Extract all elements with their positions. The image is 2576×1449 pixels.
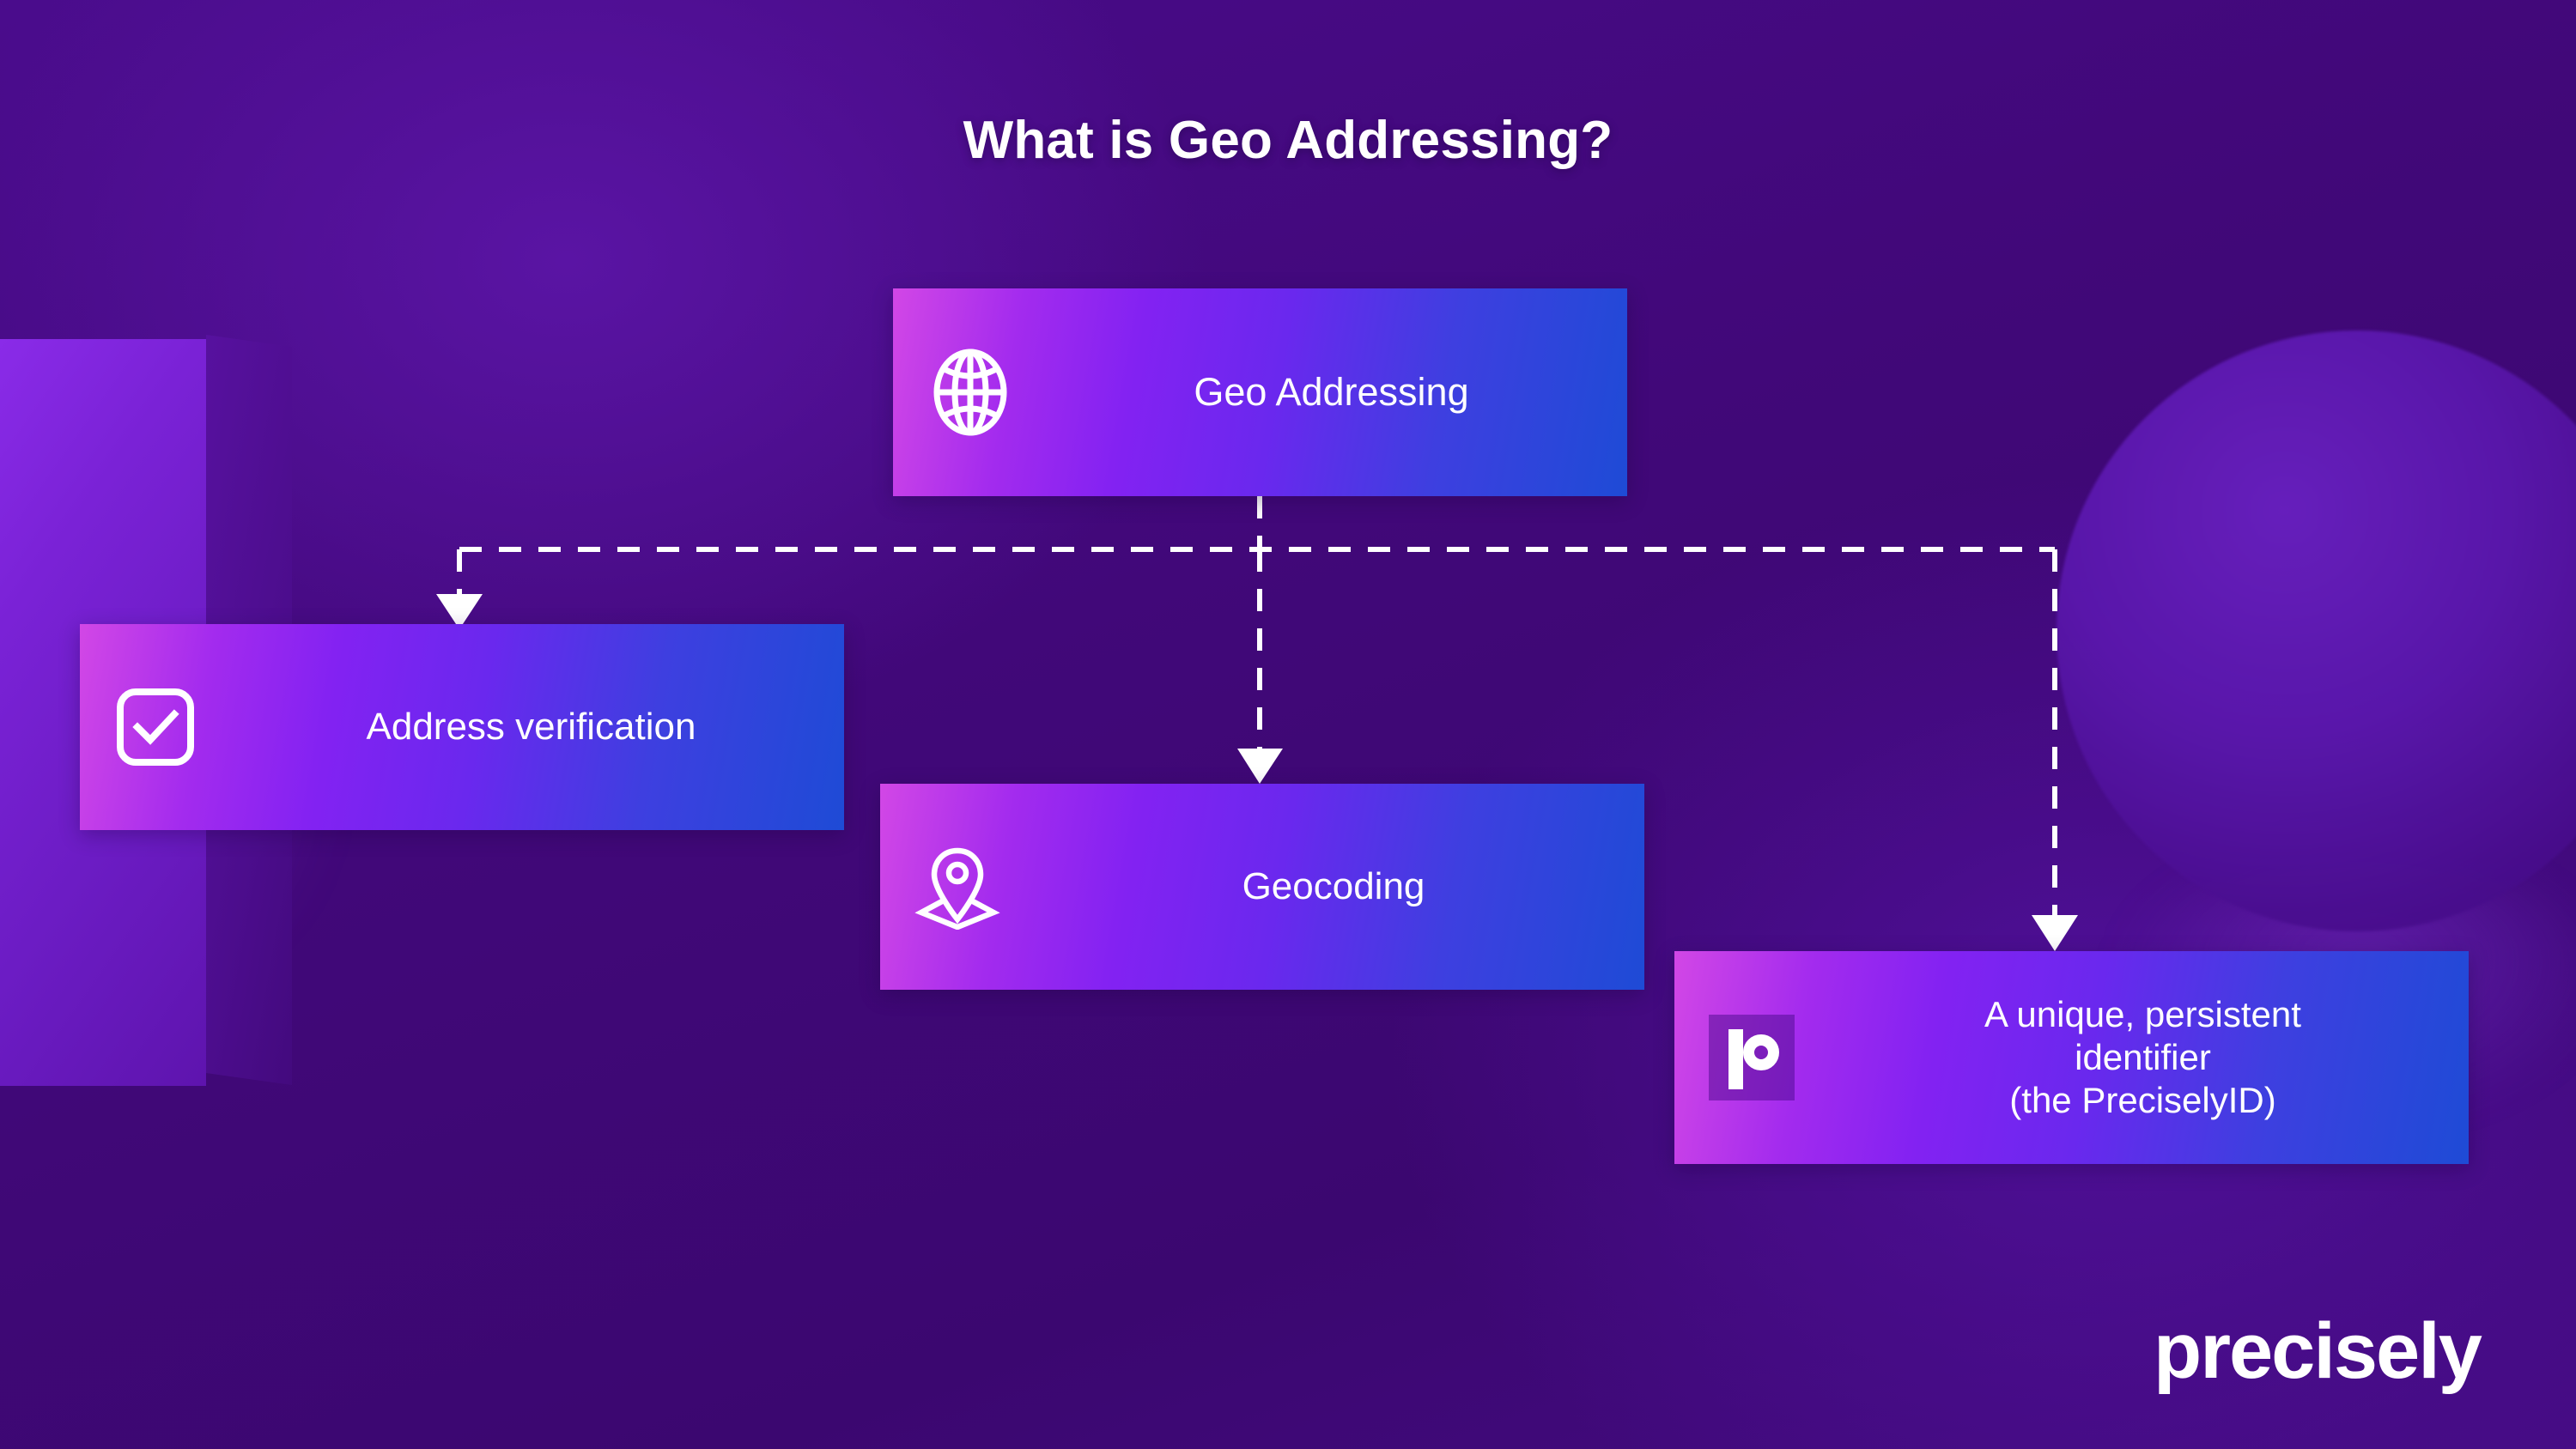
p-mark-tile	[1709, 1015, 1795, 1100]
node-label-line-1: A unique, persistent	[1829, 993, 2457, 1036]
globe-icon	[893, 288, 1048, 496]
node-address-verification[interactable]: Address verification	[80, 624, 844, 830]
node-geocoding[interactable]: Geocoding	[880, 784, 1644, 990]
map-pin-icon	[880, 784, 1035, 990]
node-precisely-id[interactable]: A unique, persistent identifier (the Pre…	[1674, 951, 2469, 1164]
node-label-precisely-id: A unique, persistent identifier (the Pre…	[1829, 993, 2469, 1122]
node-label-geo-addressing: Geo Addressing	[1048, 369, 1627, 415]
precisely-wordmark-text: precisely	[2154, 1312, 2557, 1415]
node-label-line-3: (the PreciselyID)	[1829, 1079, 2457, 1122]
node-label-geocoding: Geocoding	[1035, 864, 1644, 909]
precisely-wordmark-label: precisely	[2154, 1312, 2557, 1391]
checkbox-check-icon	[80, 624, 230, 830]
p-mark-ring	[1743, 1034, 1779, 1070]
node-label-address-verification: Address verification	[230, 705, 844, 749]
page-title: What is Geo Addressing?	[0, 110, 2576, 171]
slide-canvas: What is Geo Addressing? Geo Addressi	[0, 0, 2576, 1449]
node-geo-addressing[interactable]: Geo Addressing	[893, 288, 1627, 496]
p-mark-stem	[1728, 1029, 1743, 1089]
node-label-line-2: identifier	[1829, 1036, 2457, 1079]
precisely-p-mark-icon	[1674, 951, 1829, 1164]
